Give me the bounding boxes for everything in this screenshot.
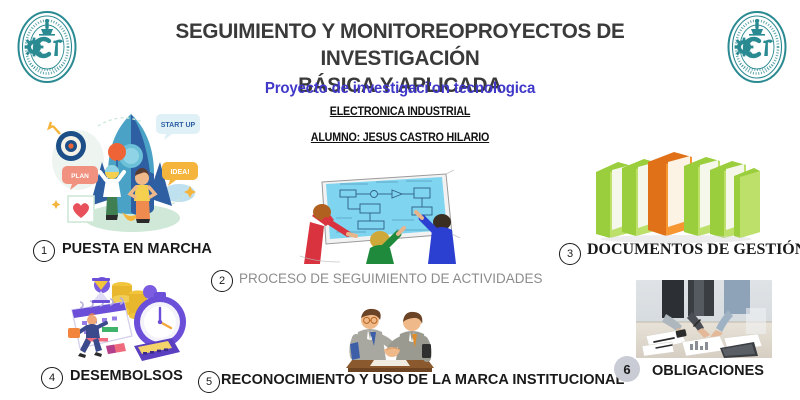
file-folders-illustration <box>588 148 764 244</box>
item-number-5: 5 <box>198 371 220 393</box>
item-number-1: 1 <box>33 240 55 262</box>
item-number-6-value: 6 <box>623 362 630 377</box>
slide-canvas: SEGUIMIENTO Y MONITOREOPROYECTOS DE INVE… <box>0 0 800 400</box>
institution-seal-logo-right <box>726 10 788 84</box>
item-number-6: 6 <box>614 356 640 382</box>
svg-text:PLAN: PLAN <box>71 173 89 180</box>
item-number-5-value: 5 <box>206 376 212 388</box>
seal-icon <box>16 10 78 84</box>
item-number-3-value: 3 <box>567 248 573 260</box>
item-number-4-value: 4 <box>49 372 55 384</box>
svg-text:IDEA!: IDEA! <box>170 169 189 176</box>
item-label-3: DOCUMENTOS DE GESTIÓN <box>587 241 800 259</box>
item-label-2: PROCESO DE SEGUIMIENTO DE ACTIVIDADES <box>239 271 543 286</box>
course-name: ELECTRONICA INDUSTRIAL <box>168 106 633 118</box>
svg-text:START UP: START UP <box>161 122 196 129</box>
team-documents-photo-icon <box>636 280 772 358</box>
item-label-4: DESEMBOLSOS <box>70 368 183 384</box>
item-number-2: 2 <box>211 270 233 292</box>
student-name: ALUMNO: JESUS CASTRO HILARIO <box>168 132 633 144</box>
page-subtitle: Proyecto de investigaci'on tecnologica <box>109 80 691 98</box>
money-calendar-clock-icon <box>46 276 206 364</box>
team-planning-board-icon <box>296 160 476 264</box>
institution-seal-logo-left <box>16 10 78 84</box>
rocket-startup-icon: START UP IDEA! PLAN <box>40 100 210 242</box>
seal-icon <box>726 10 788 84</box>
item-label-6: OBLIGACIONES <box>652 363 764 379</box>
item-number-3: 3 <box>559 243 581 265</box>
item-label-5: RECONOCIMIENTO Y USO DE LA MARCA INSTITU… <box>221 372 624 388</box>
item-label-1: PUESTA EN MARCHA <box>62 241 212 257</box>
item-number-1-value: 1 <box>41 245 47 257</box>
money-calendar-clock-illustration <box>46 276 206 364</box>
file-folders-icon <box>588 148 764 244</box>
item-number-2-value: 2 <box>219 275 225 287</box>
rocket-startup-illustration: START UP IDEA! PLAN <box>40 100 210 242</box>
team-planning-board-illustration <box>296 160 476 264</box>
page-title-line1: SEGUIMIENTO Y MONITOREOPROYECTOS DE INVE… <box>175 19 624 70</box>
team-documents-photo <box>636 280 772 358</box>
item-number-4: 4 <box>41 367 63 389</box>
handshake-icon <box>334 302 446 374</box>
handshake-illustration <box>334 302 446 374</box>
